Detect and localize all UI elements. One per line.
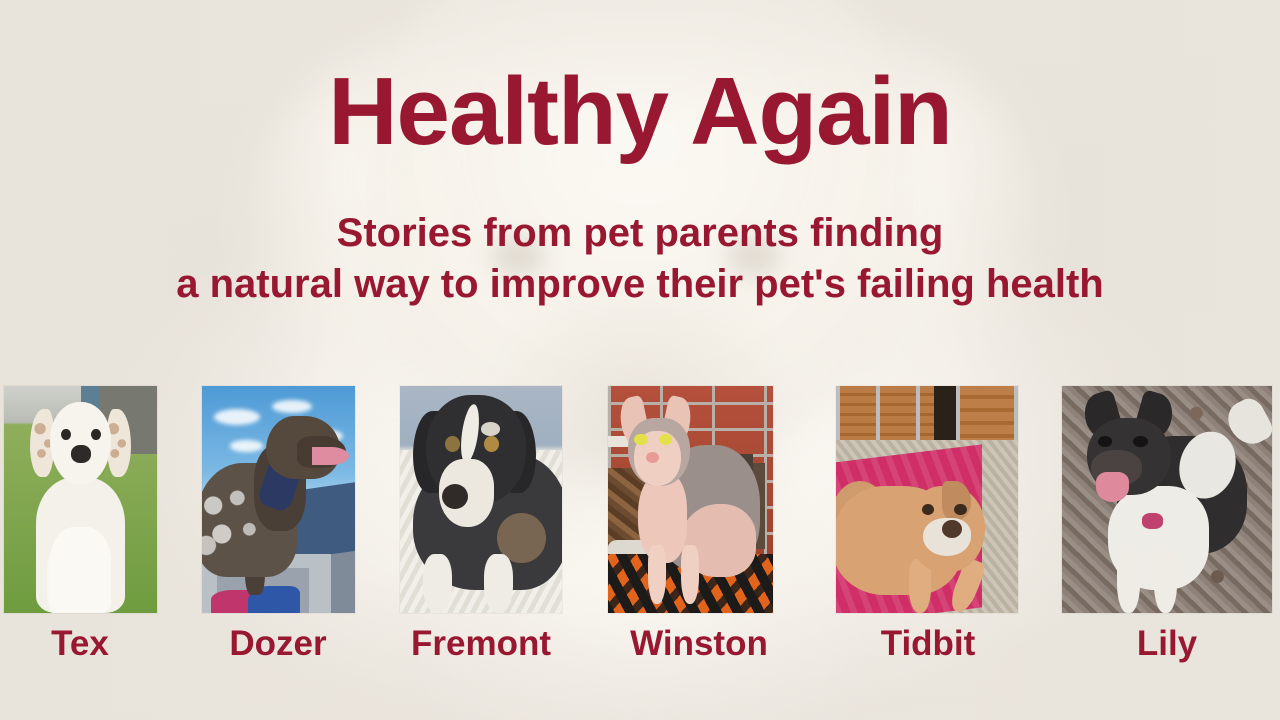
photo-scene-lily	[1062, 386, 1272, 613]
pet-photo-tidbit[interactable]	[836, 386, 1018, 613]
pet-name-winston: Winston	[630, 624, 768, 664]
page-subtitle: Stories from pet parents finding a natur…	[0, 208, 1280, 310]
subtitle-line-1: Stories from pet parents finding	[0, 208, 1280, 259]
pet-name-tex: Tex	[51, 624, 109, 664]
pet-card-dozer[interactable]: Dozer	[202, 386, 355, 613]
pet-name-dozer: Dozer	[229, 624, 326, 664]
photo-scene-tidbit	[836, 386, 1018, 613]
pet-photo-dozer[interactable]	[202, 386, 355, 613]
photo-scene-fremont	[400, 386, 562, 613]
pet-card-fremont[interactable]: Fremont	[400, 386, 562, 613]
pet-card-tidbit[interactable]: Tidbit	[836, 386, 1018, 613]
subtitle-line-2: a natural way to improve their pet's fai…	[0, 259, 1280, 310]
pet-name-fremont: Fremont	[411, 624, 551, 664]
pet-card-winston[interactable]: Winston	[608, 386, 773, 613]
slide-canvas: Healthy Again Stories from pet parents f…	[0, 0, 1280, 720]
page-title: Healthy Again	[0, 62, 1280, 163]
pet-name-lily: Lily	[1137, 624, 1197, 664]
pet-photo-winston[interactable]	[608, 386, 773, 613]
pet-card-tex[interactable]: Tex	[4, 386, 157, 613]
pet-photo-tex[interactable]	[4, 386, 157, 613]
photo-scene-winston	[608, 386, 773, 613]
pet-photo-lily[interactable]	[1062, 386, 1272, 613]
photo-scene-dozer	[202, 386, 355, 613]
pet-photo-fremont[interactable]	[400, 386, 562, 613]
pet-card-lily[interactable]: Lily	[1062, 386, 1272, 613]
photo-scene-tex	[4, 386, 157, 613]
pet-name-tidbit: Tidbit	[881, 624, 976, 664]
